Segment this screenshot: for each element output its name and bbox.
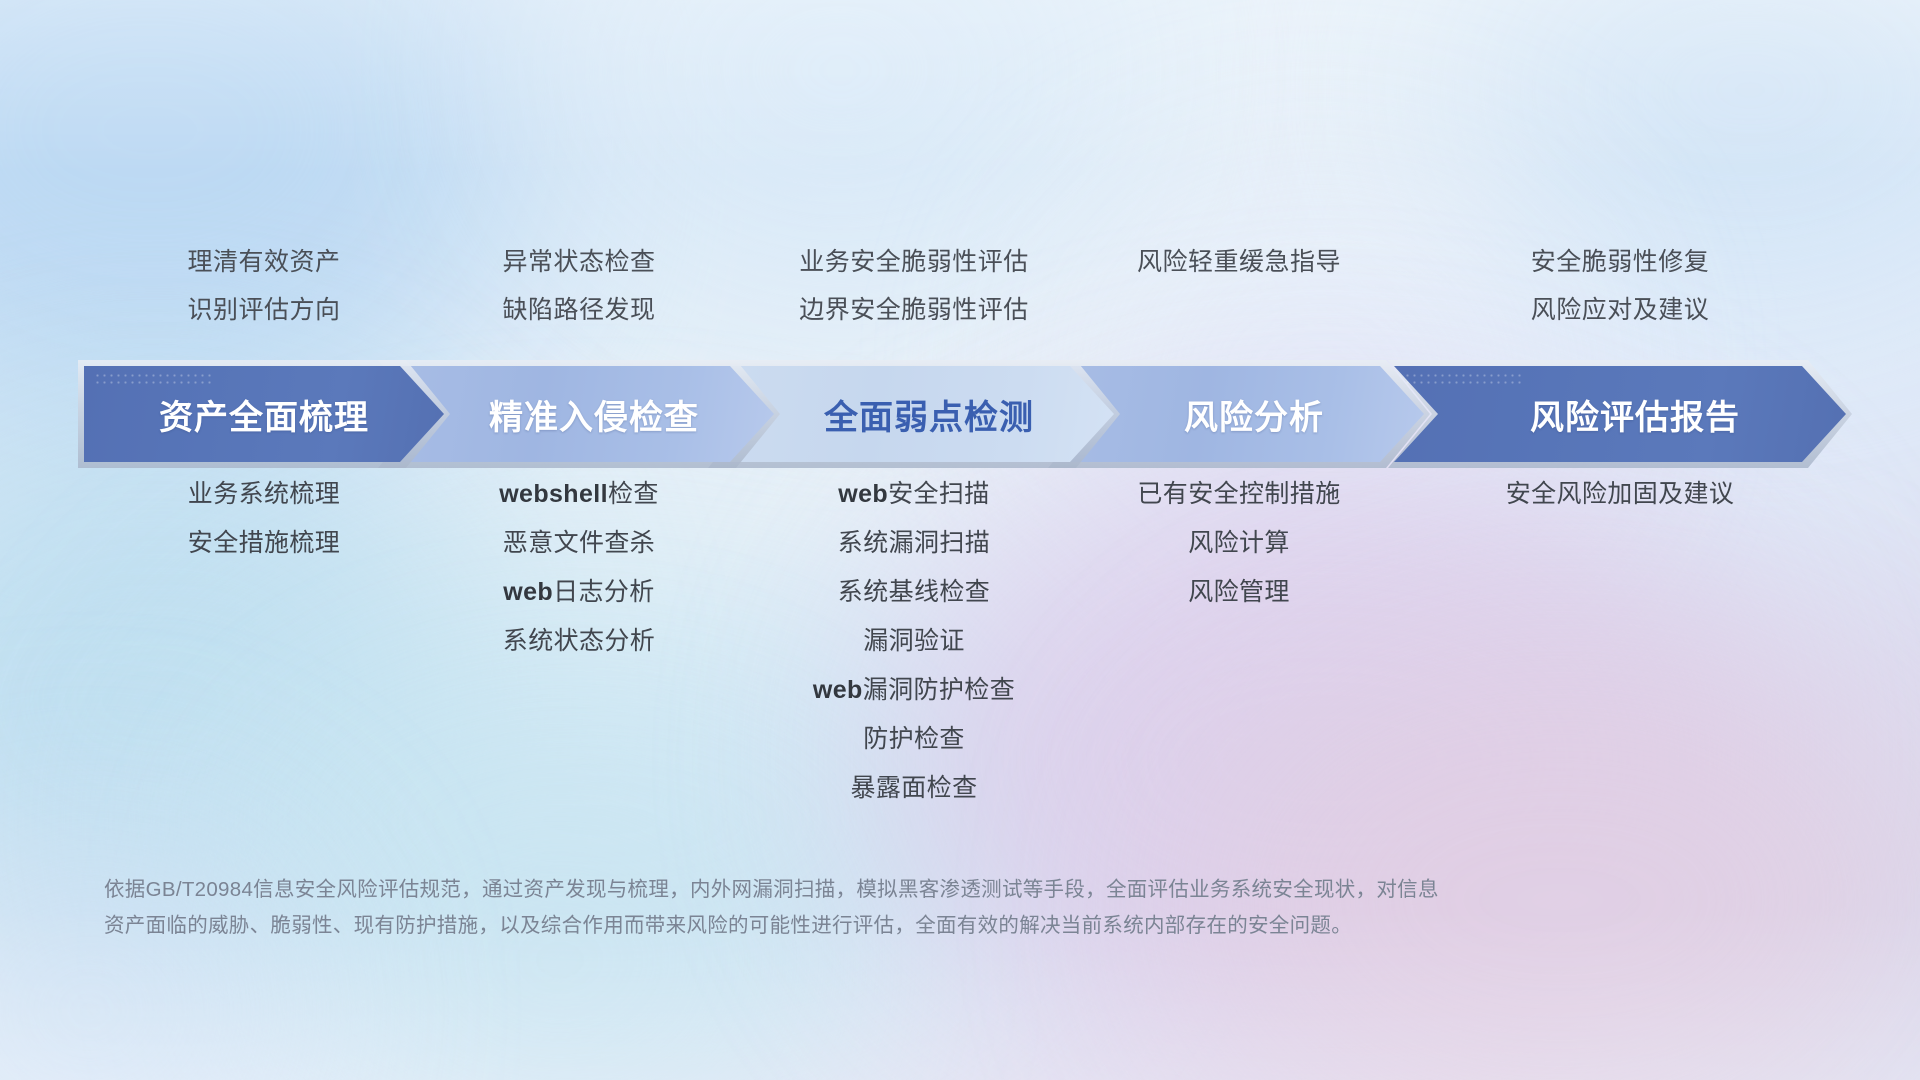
diagram-content: 理清有效资产识别评估方向异常状态检查缺陷路径发现业务安全脆弱性评估边界安全脆弱性… — [0, 0, 1920, 1080]
chevron-label: 风险评估报告 — [1394, 390, 1846, 439]
chevron-risk-report[interactable]: 风险评估报告 — [1394, 366, 1846, 462]
top-note: 风险应对及建议 — [1394, 286, 1846, 334]
stage-item: 风险计算 — [1054, 519, 1424, 568]
chevron-label: 资产全面梳理 — [84, 390, 444, 439]
stage-item: 防护检查 — [714, 715, 1114, 764]
footer-description: 依据GB/T20984信息安全风险评估规范，通过资产发现与梳理，内外网漏洞扫描，… — [104, 872, 1664, 944]
stage-item-text: 检查 — [608, 480, 659, 508]
top-notes-risk-report: 安全脆弱性修复风险应对及建议 — [1394, 238, 1846, 334]
stage-item-text: 安全措施梳理 — [188, 529, 340, 557]
stage-item: web漏洞防护检查 — [714, 666, 1114, 715]
stage-item: 已有安全控制措施 — [1054, 470, 1424, 519]
top-notes-risk-analysis: 风险轻重缓急指导 — [1054, 238, 1424, 286]
top-note: 边界安全脆弱性评估 — [714, 286, 1114, 334]
items-risk-report: 安全风险加固及建议 — [1394, 470, 1846, 519]
stage-item-prefix: web — [503, 578, 553, 606]
stage-item-text: 风险计算 — [1188, 529, 1290, 557]
stage-item-text: 系统基线检查 — [838, 578, 990, 606]
top-note: 风险轻重缓急指导 — [1054, 238, 1424, 286]
stage-item-text: 恶意文件查杀 — [503, 529, 655, 557]
footer-line-1: 依据GB/T20984信息安全风险评估规范，通过资产发现与梳理，内外网漏洞扫描，… — [104, 872, 1664, 908]
stage-item: 漏洞验证 — [714, 617, 1114, 666]
stage-item-prefix: web — [838, 480, 888, 508]
stage-item-text: 风险管理 — [1188, 578, 1290, 606]
stage-item-text: 漏洞验证 — [863, 627, 965, 655]
stage-item-text: 日志分析 — [553, 578, 655, 606]
stage-item-text: 系统漏洞扫描 — [838, 529, 990, 557]
stage-item: 风险管理 — [1054, 568, 1424, 617]
stage-item-text: 暴露面检查 — [850, 774, 977, 802]
stage-item: 安全风险加固及建议 — [1394, 470, 1846, 519]
top-note: 安全脆弱性修复 — [1394, 238, 1846, 286]
stage-item-text: 系统状态分析 — [503, 627, 655, 655]
stage-item: 暴露面检查 — [714, 764, 1114, 813]
stage-item-prefix: web — [813, 676, 863, 704]
stage-item-text: 业务系统梳理 — [188, 480, 340, 508]
stage-item-text: 漏洞防护检查 — [863, 676, 1015, 704]
chevron-asset-inventory[interactable]: 资产全面梳理 — [84, 366, 444, 462]
stage-item-text: 防护检查 — [863, 725, 965, 753]
stage-item-text: 安全扫描 — [888, 480, 990, 508]
stage-item-text: 已有安全控制措施 — [1137, 480, 1340, 508]
stage-item-prefix: webshell — [499, 480, 608, 508]
items-risk-analysis: 已有安全控制措施风险计算风险管理 — [1054, 470, 1424, 617]
process-chevron-banner: 资产全面梳理精准入侵检查全面弱点检测风险分析风险评估报告 — [84, 366, 1846, 462]
stage-item-text: 安全风险加固及建议 — [1506, 480, 1735, 508]
footer-line-2: 资产面临的威胁、脆弱性、现有防护措施，以及综合作用而带来风险的可能性进行评估，全… — [104, 908, 1664, 944]
